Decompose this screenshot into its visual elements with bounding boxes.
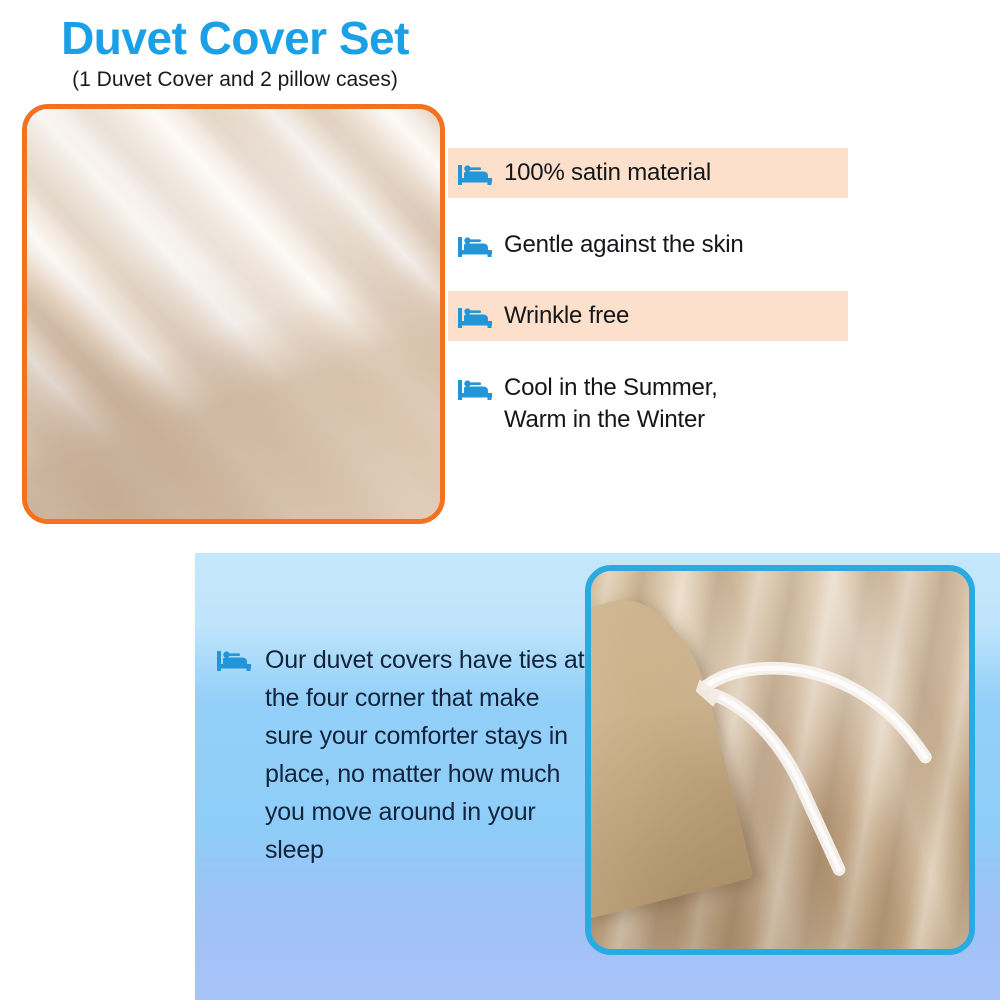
- feature-gap: [448, 269, 848, 291]
- feature-gap: [448, 341, 848, 363]
- feature-item-satin-material: 100% satin material: [448, 148, 848, 198]
- feature-label: 100% satin material: [504, 157, 711, 189]
- tie-description-block: Our duvet covers have ties at the four c…: [217, 641, 592, 869]
- page-subtitle: (1 Duvet Cover and 2 pillow cases): [0, 62, 470, 91]
- feature-gap: [448, 198, 848, 220]
- feature-label: Cool in the Summer, Warm in the Winter: [504, 372, 718, 435]
- feature-item-cool-warm: Cool in the Summer, Warm in the Winter: [448, 363, 848, 444]
- bed-icon: [458, 163, 492, 187]
- satin-vignette-layer: [27, 109, 440, 519]
- feature-item-gentle-skin: Gentle against the skin: [448, 220, 848, 270]
- feature-label: Wrinkle free: [504, 300, 629, 332]
- satin-fabric-photo: [22, 104, 445, 524]
- header: Duvet Cover Set (1 Duvet Cover and 2 pil…: [0, 0, 470, 91]
- feature-list: 100% satin material Gentle against the s…: [448, 148, 848, 444]
- page-title: Duvet Cover Set: [0, 0, 470, 62]
- tie-feature-panel: Our duvet covers have ties at the four c…: [195, 553, 1000, 1000]
- bed-icon: [458, 306, 492, 330]
- bed-icon: [458, 378, 492, 402]
- bed-icon: [458, 235, 492, 259]
- white-ribbon-ties: [591, 571, 969, 949]
- bed-icon: [217, 649, 251, 673]
- duvet-tie-photo: [585, 565, 975, 955]
- feature-item-wrinkle-free: Wrinkle free: [448, 291, 848, 341]
- feature-label: Gentle against the skin: [504, 229, 744, 261]
- tie-description-text: Our duvet covers have ties at the four c…: [265, 641, 592, 869]
